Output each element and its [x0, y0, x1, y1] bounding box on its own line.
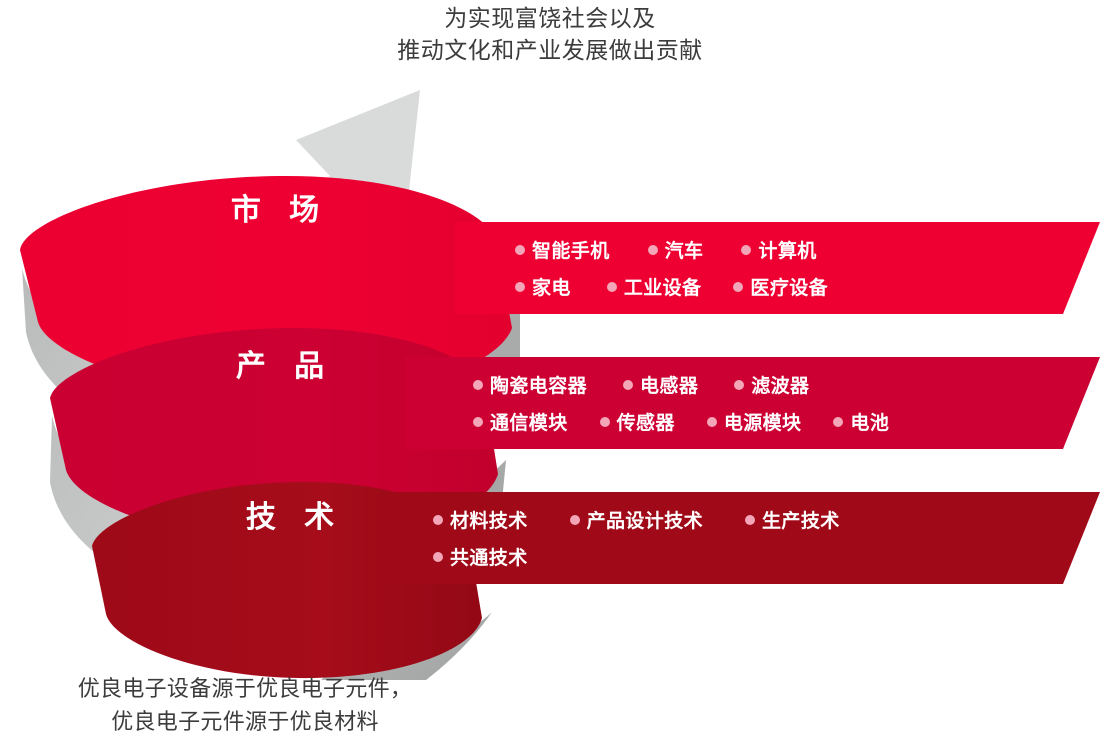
- bullet-icon: [607, 282, 617, 292]
- banner-product: 陶瓷电容器 电感器 滤波器 通信模块 传感器: [405, 357, 1100, 449]
- tag-label: 通信模块: [490, 408, 568, 435]
- bullet-icon: [433, 515, 443, 525]
- banner-market-row-1: 智能手机 汽车 计算机: [515, 231, 1100, 268]
- tag-label: 陶瓷电容器: [490, 371, 587, 398]
- bullet-icon: [515, 245, 525, 255]
- footnote-text: 优良电子设备源于优良电子元件， 优良电子元件源于优良材料: [30, 672, 460, 738]
- tag-label: 智能手机: [532, 236, 610, 263]
- tag-product-1[interactable]: 电感器: [623, 371, 698, 398]
- bullet-icon: [433, 552, 443, 562]
- tag-product-3[interactable]: 通信模块: [473, 408, 568, 435]
- tag-label: 产品设计技术: [587, 506, 703, 533]
- bullet-icon: [473, 417, 483, 427]
- bullet-icon: [733, 282, 743, 292]
- bullet-icon: [600, 417, 610, 427]
- tag-market-4[interactable]: 工业设备: [607, 273, 702, 300]
- tag-label: 工业设备: [624, 273, 702, 300]
- tag-market-5[interactable]: 医疗设备: [733, 273, 828, 300]
- banner-technology-row-1: 材料技术 产品设计技术 生产技术: [433, 501, 1100, 538]
- tag-market-0[interactable]: 智能手机: [515, 236, 610, 263]
- tag-product-6[interactable]: 电池: [833, 408, 889, 435]
- bullet-icon: [570, 515, 580, 525]
- tag-label: 传感器: [617, 408, 675, 435]
- tag-technology-0[interactable]: 材料技术: [433, 506, 528, 533]
- tag-market-1[interactable]: 汽车: [648, 236, 704, 263]
- headline-text: 为实现富饶社会以及 推动文化和产业发展做出贡献: [250, 2, 850, 66]
- bullet-icon: [648, 245, 658, 255]
- bullet-icon: [473, 380, 483, 390]
- banner-market-row-2: 家电 工业设备 医疗设备: [515, 268, 1100, 305]
- diagram-canvas: 为实现富饶社会以及 推动文化和产业发展做出贡献: [0, 0, 1100, 750]
- bullet-icon: [833, 417, 843, 427]
- bullet-icon: [707, 417, 717, 427]
- tag-label: 医疗设备: [750, 273, 828, 300]
- tag-market-3[interactable]: 家电: [515, 273, 571, 300]
- banner-technology-row-2: 共通技术: [433, 538, 1100, 575]
- tag-label: 电感器: [640, 371, 698, 398]
- bullet-icon: [745, 515, 755, 525]
- tag-product-0[interactable]: 陶瓷电容器: [473, 371, 587, 398]
- tag-product-5[interactable]: 电源模块: [707, 408, 802, 435]
- tag-label: 滤波器: [751, 371, 809, 398]
- bullet-icon: [741, 245, 751, 255]
- tag-technology-3[interactable]: 共通技术: [433, 543, 528, 570]
- banner-market: 智能手机 汽车 计算机 家电 工业设备: [455, 222, 1100, 314]
- tag-label: 材料技术: [450, 506, 528, 533]
- bullet-icon: [623, 380, 633, 390]
- tag-label: 共通技术: [450, 543, 528, 570]
- tag-label: 电源模块: [724, 408, 802, 435]
- bullet-icon: [734, 380, 744, 390]
- banner-product-row-1: 陶瓷电容器 电感器 滤波器: [473, 366, 1100, 403]
- banner-product-row-2: 通信模块 传感器 电源模块 电池: [473, 403, 1100, 440]
- banner-technology: 材料技术 产品设计技术 生产技术 共通技术: [385, 492, 1100, 584]
- tag-product-2[interactable]: 滤波器: [734, 371, 809, 398]
- tag-technology-2[interactable]: 生产技术: [745, 506, 840, 533]
- tag-label: 生产技术: [762, 506, 840, 533]
- tag-label: 电池: [850, 408, 889, 435]
- tag-product-4[interactable]: 传感器: [600, 408, 675, 435]
- tag-label: 家电: [532, 273, 571, 300]
- tag-technology-1[interactable]: 产品设计技术: [570, 506, 703, 533]
- bullet-icon: [515, 282, 525, 292]
- tag-label: 计算机: [758, 236, 816, 263]
- tag-label: 汽车: [665, 236, 704, 263]
- tag-market-2[interactable]: 计算机: [741, 236, 816, 263]
